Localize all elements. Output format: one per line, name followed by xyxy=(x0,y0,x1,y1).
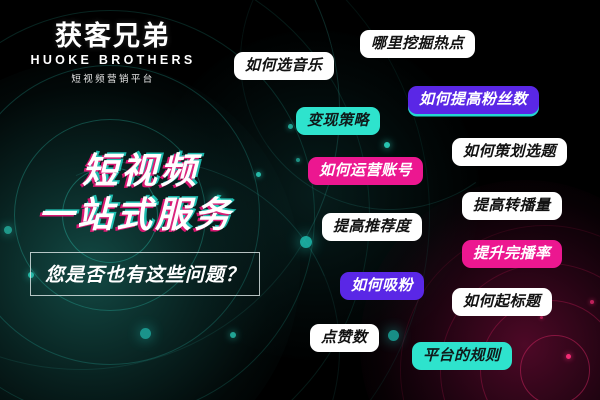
decorative-dot xyxy=(300,236,312,248)
keyword-tag[interactable]: 如何策划选题 xyxy=(452,138,567,166)
decorative-dot xyxy=(296,158,300,162)
keyword-tag[interactable]: 平台的规则 xyxy=(412,342,512,370)
keyword-tag[interactable]: 如何运营账号 xyxy=(308,157,423,185)
keyword-tag[interactable]: 提升完播率 xyxy=(462,240,562,268)
keyword-tag[interactable]: 如何提高粉丝数 xyxy=(408,86,539,114)
headline-line-1: 短视频 xyxy=(82,150,260,194)
logo-tagline: 短视频营销平台 xyxy=(28,71,198,85)
question-box: 您是否也有这些问题？ xyxy=(30,252,260,296)
decorative-dot xyxy=(230,332,236,338)
logo-name-cn: 获客兄弟 xyxy=(28,22,198,51)
keyword-tag[interactable]: 提高推荐度 xyxy=(322,213,422,241)
decorative-dot xyxy=(540,316,543,319)
crimson-ring-1 xyxy=(520,335,590,400)
brand-logo: 获客兄弟 HUOKE BROTHERS 短视频营销平台 xyxy=(28,22,198,85)
decorative-dot xyxy=(384,142,390,148)
keyword-tag[interactable]: 如何吸粉 xyxy=(340,272,424,300)
decorative-dot xyxy=(566,354,571,359)
keyword-tag[interactable]: 提高转播量 xyxy=(462,192,562,220)
keyword-tag[interactable]: 哪里挖掘热点 xyxy=(360,30,475,58)
keyword-tag[interactable]: 变现策略 xyxy=(296,107,380,135)
keyword-tag[interactable]: 如何起标题 xyxy=(452,288,552,316)
logo-name-en: HUOKE BROTHERS xyxy=(28,53,198,67)
decorative-dot xyxy=(288,124,293,129)
crimson-ring-3 xyxy=(440,263,600,400)
keyword-tag[interactable]: 如何选音乐 xyxy=(234,52,334,80)
keyword-tag[interactable]: 点赞数 xyxy=(310,324,379,352)
decorative-dot xyxy=(140,328,151,339)
decorative-dot xyxy=(4,226,12,234)
decorative-dot xyxy=(388,330,399,341)
headline-block: 短视频 一站式服务 您是否也有这些问题？ xyxy=(38,150,260,296)
headline-line-2: 一站式服务 xyxy=(38,194,260,238)
question-text: 您是否也有这些问题？ xyxy=(45,264,245,286)
poster-canvas: 获客兄弟 HUOKE BROTHERS 短视频营销平台 短视频 一站式服务 您是… xyxy=(0,0,600,400)
decorative-dot xyxy=(590,300,594,304)
